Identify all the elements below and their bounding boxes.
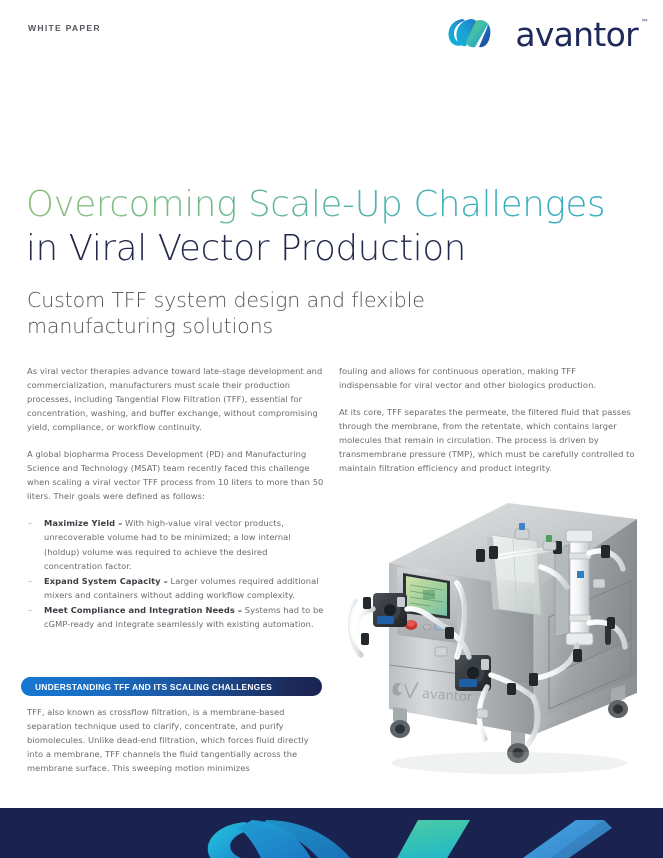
- goal-lead-2: Expand System Capacity –: [44, 576, 168, 586]
- page-header: WHITE PAPER: [0, 0, 663, 60]
- section-paragraph-1: TFF, also known as crossflow filtration,…: [27, 705, 324, 775]
- dash-bullet-icon: –: [28, 574, 32, 588]
- list-item: –Expand System Capacity – Larger volumes…: [27, 574, 324, 602]
- footer-band: [0, 808, 663, 858]
- avantor-wordmark-text: avantor: [515, 15, 638, 54]
- page-title-line-1: Overcoming Scale-Up Challenges: [26, 183, 641, 227]
- left-paragraph-1: As viral vector therapies advance toward…: [27, 364, 324, 434]
- goals-list: –Maximize Yield – With high-value viral …: [27, 516, 324, 630]
- white-paper-page: WHITE PAPER: [0, 0, 663, 858]
- list-item: –Maximize Yield – With high-value viral …: [27, 516, 324, 572]
- dash-bullet-icon: –: [28, 603, 32, 617]
- avantor-wordmark: avantor ™: [515, 18, 638, 51]
- section-body: TFF, also known as crossflow filtration,…: [27, 705, 324, 775]
- goal-lead-3: Meet Compliance and Integration Needs –: [44, 605, 242, 615]
- avantor-logo: avantor ™: [447, 14, 638, 54]
- left-paragraph-2: A global biopharma Process Development (…: [27, 447, 324, 503]
- page-title: Overcoming Scale-Up Challenges in Viral …: [26, 183, 641, 271]
- document-kicker: WHITE PAPER: [28, 23, 101, 33]
- left-column: As viral vector therapies advance toward…: [27, 364, 324, 632]
- footer-logo-watermark-icon: [0, 808, 663, 858]
- page-title-line-2: in Viral Vector Production: [26, 227, 641, 271]
- trademark-symbol: ™: [641, 19, 649, 27]
- list-item: –Meet Compliance and Integration Needs –…: [27, 603, 324, 631]
- section-banner-label: UNDERSTANDING TFF AND ITS SCALING CHALLE…: [21, 682, 272, 692]
- section-banner: UNDERSTANDING TFF AND ITS SCALING CHALLE…: [21, 677, 322, 696]
- right-column: fouling and allows for continuous operat…: [339, 364, 636, 475]
- goal-lead-1: Maximize Yield –: [44, 518, 122, 528]
- tff-skid-illustration: avantor: [337, 497, 663, 787]
- dash-bullet-icon: –: [28, 516, 32, 530]
- right-paragraph-2: At its core, TFF separates the permeate,…: [339, 405, 636, 475]
- right-paragraph-1: fouling and allows for continuous operat…: [339, 364, 636, 392]
- product-photo: avantor: [337, 497, 663, 787]
- page-subtitle: Custom TFF system design and flexible ma…: [27, 287, 457, 339]
- avantor-ribbon-mark-icon: [447, 14, 507, 55]
